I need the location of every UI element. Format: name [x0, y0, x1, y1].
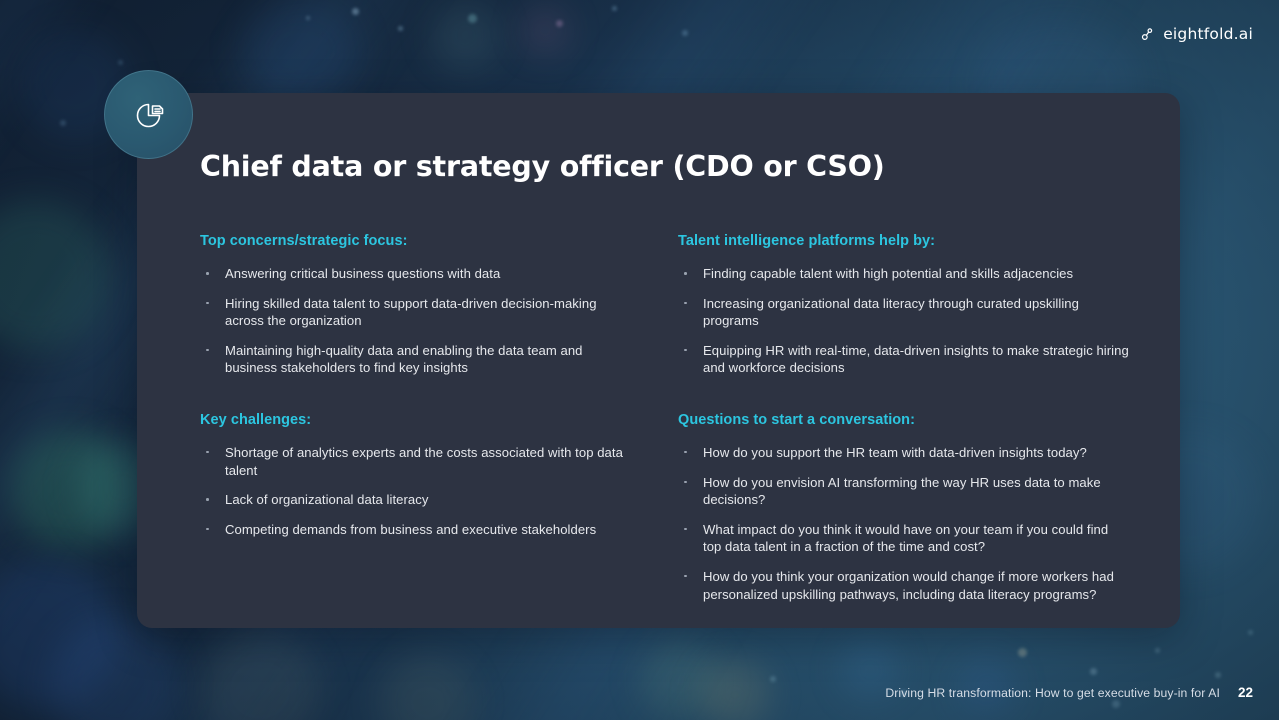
page-number: 22 [1238, 685, 1253, 700]
bullet-list: Answering critical business questions wi… [200, 265, 634, 377]
list-item: Finding capable talent with high potenti… [678, 265, 1130, 283]
list-item: What impact do you think it would have o… [678, 521, 1130, 556]
list-item: Increasing organizational data literacy … [678, 295, 1130, 330]
section-heading: Questions to start a conversation: [678, 412, 1130, 428]
eightfold-knot-icon [1139, 26, 1156, 43]
list-item: How do you envision AI transforming the … [678, 474, 1130, 509]
bullet-list: Finding capable talent with high potenti… [678, 265, 1130, 377]
footer-deck-title: Driving HR transformation: How to get ex… [885, 686, 1220, 700]
pie-chart-report-icon [129, 95, 169, 135]
bullet-list: How do you support the HR team with data… [678, 444, 1130, 603]
brand-logo: eightfold.ai [1139, 25, 1253, 43]
list-item: Maintaining high-quality data and enabli… [200, 342, 634, 377]
section-heading: Key challenges: [200, 412, 634, 428]
section-key-challenges: Key challenges: Shortage of analytics ex… [200, 412, 634, 538]
section-top-concerns: Top concerns/strategic focus: Answering … [200, 233, 634, 377]
column-left: Top concerns/strategic focus: Answering … [200, 233, 634, 603]
list-item: Equipping HR with real-time, data-driven… [678, 342, 1130, 377]
content-columns: Top concerns/strategic focus: Answering … [200, 233, 1130, 603]
section-conversation-questions: Questions to start a conversation: How d… [678, 412, 1130, 603]
section-heading: Top concerns/strategic focus: [200, 233, 634, 249]
column-right: Talent intelligence platforms help by: F… [678, 233, 1130, 603]
brand-logo-text: eightfold.ai [1163, 25, 1253, 43]
slide-footer: Driving HR transformation: How to get ex… [885, 685, 1253, 700]
list-item: Hiring skilled data talent to support da… [200, 295, 634, 330]
list-item: How do you think your organization would… [678, 568, 1130, 603]
list-item: How do you support the HR team with data… [678, 444, 1130, 462]
list-item: Competing demands from business and exec… [200, 521, 634, 539]
section-heading: Talent intelligence platforms help by: [678, 233, 1130, 249]
list-item: Lack of organizational data literacy [200, 491, 634, 509]
list-item: Answering critical business questions wi… [200, 265, 634, 283]
slide: eightfold.ai Chief data or strategy offi… [0, 0, 1279, 720]
list-item: Shortage of analytics experts and the co… [200, 444, 634, 479]
page-title: Chief data or strategy officer (CDO or C… [200, 150, 885, 183]
bullet-list: Shortage of analytics experts and the co… [200, 444, 634, 538]
section-talent-intelligence: Talent intelligence platforms help by: F… [678, 233, 1130, 377]
slide-icon-badge [104, 70, 193, 159]
